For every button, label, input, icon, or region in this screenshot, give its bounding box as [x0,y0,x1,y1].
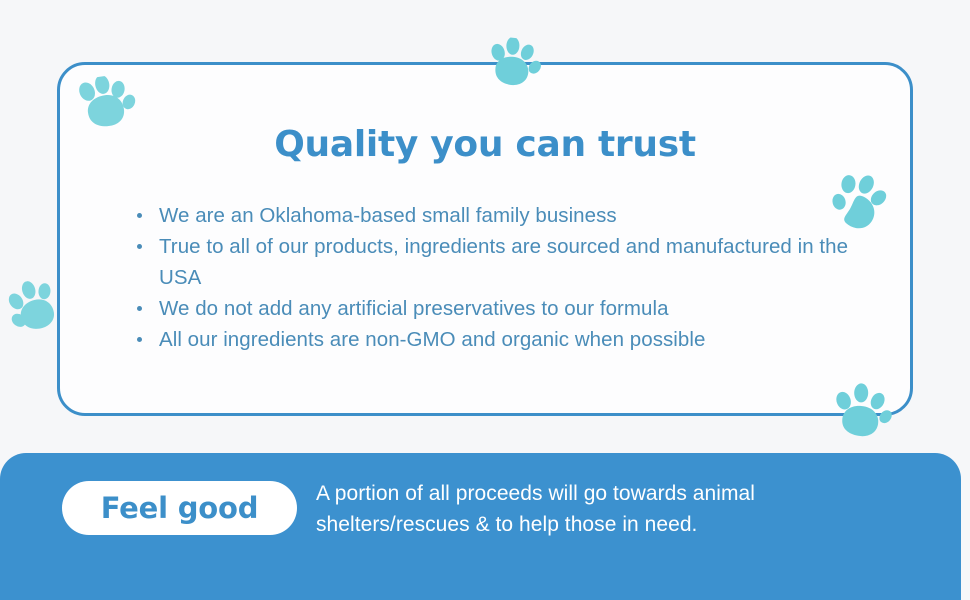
list-item: We do not add any artificial preservativ… [132,293,870,324]
list-item: All our ingredients are non-GMO and orga… [132,324,870,355]
page-title: Quality you can trust [60,127,910,163]
banner-line-1: A portion of all proceeds will go toward… [316,478,916,509]
quality-card: Quality you can trust We are an Oklahoma… [57,62,913,416]
list-item: We are an Oklahoma-based small family bu… [132,200,870,231]
feel-good-banner: Feel good A portion of all proceeds will… [0,453,961,600]
list-item: True to all of our products, ingredients… [132,231,870,293]
badge-label: Feel good [101,494,259,523]
infographic-canvas: Quality you can trust We are an Oklahoma… [0,0,970,600]
banner-line-2: shelters/rescues & to help those in need… [316,509,916,540]
banner-description: A portion of all proceeds will go toward… [316,478,916,540]
quality-bullet-list: We are an Oklahoma-based small family bu… [132,200,870,355]
status-badge: Feel good [62,481,297,535]
